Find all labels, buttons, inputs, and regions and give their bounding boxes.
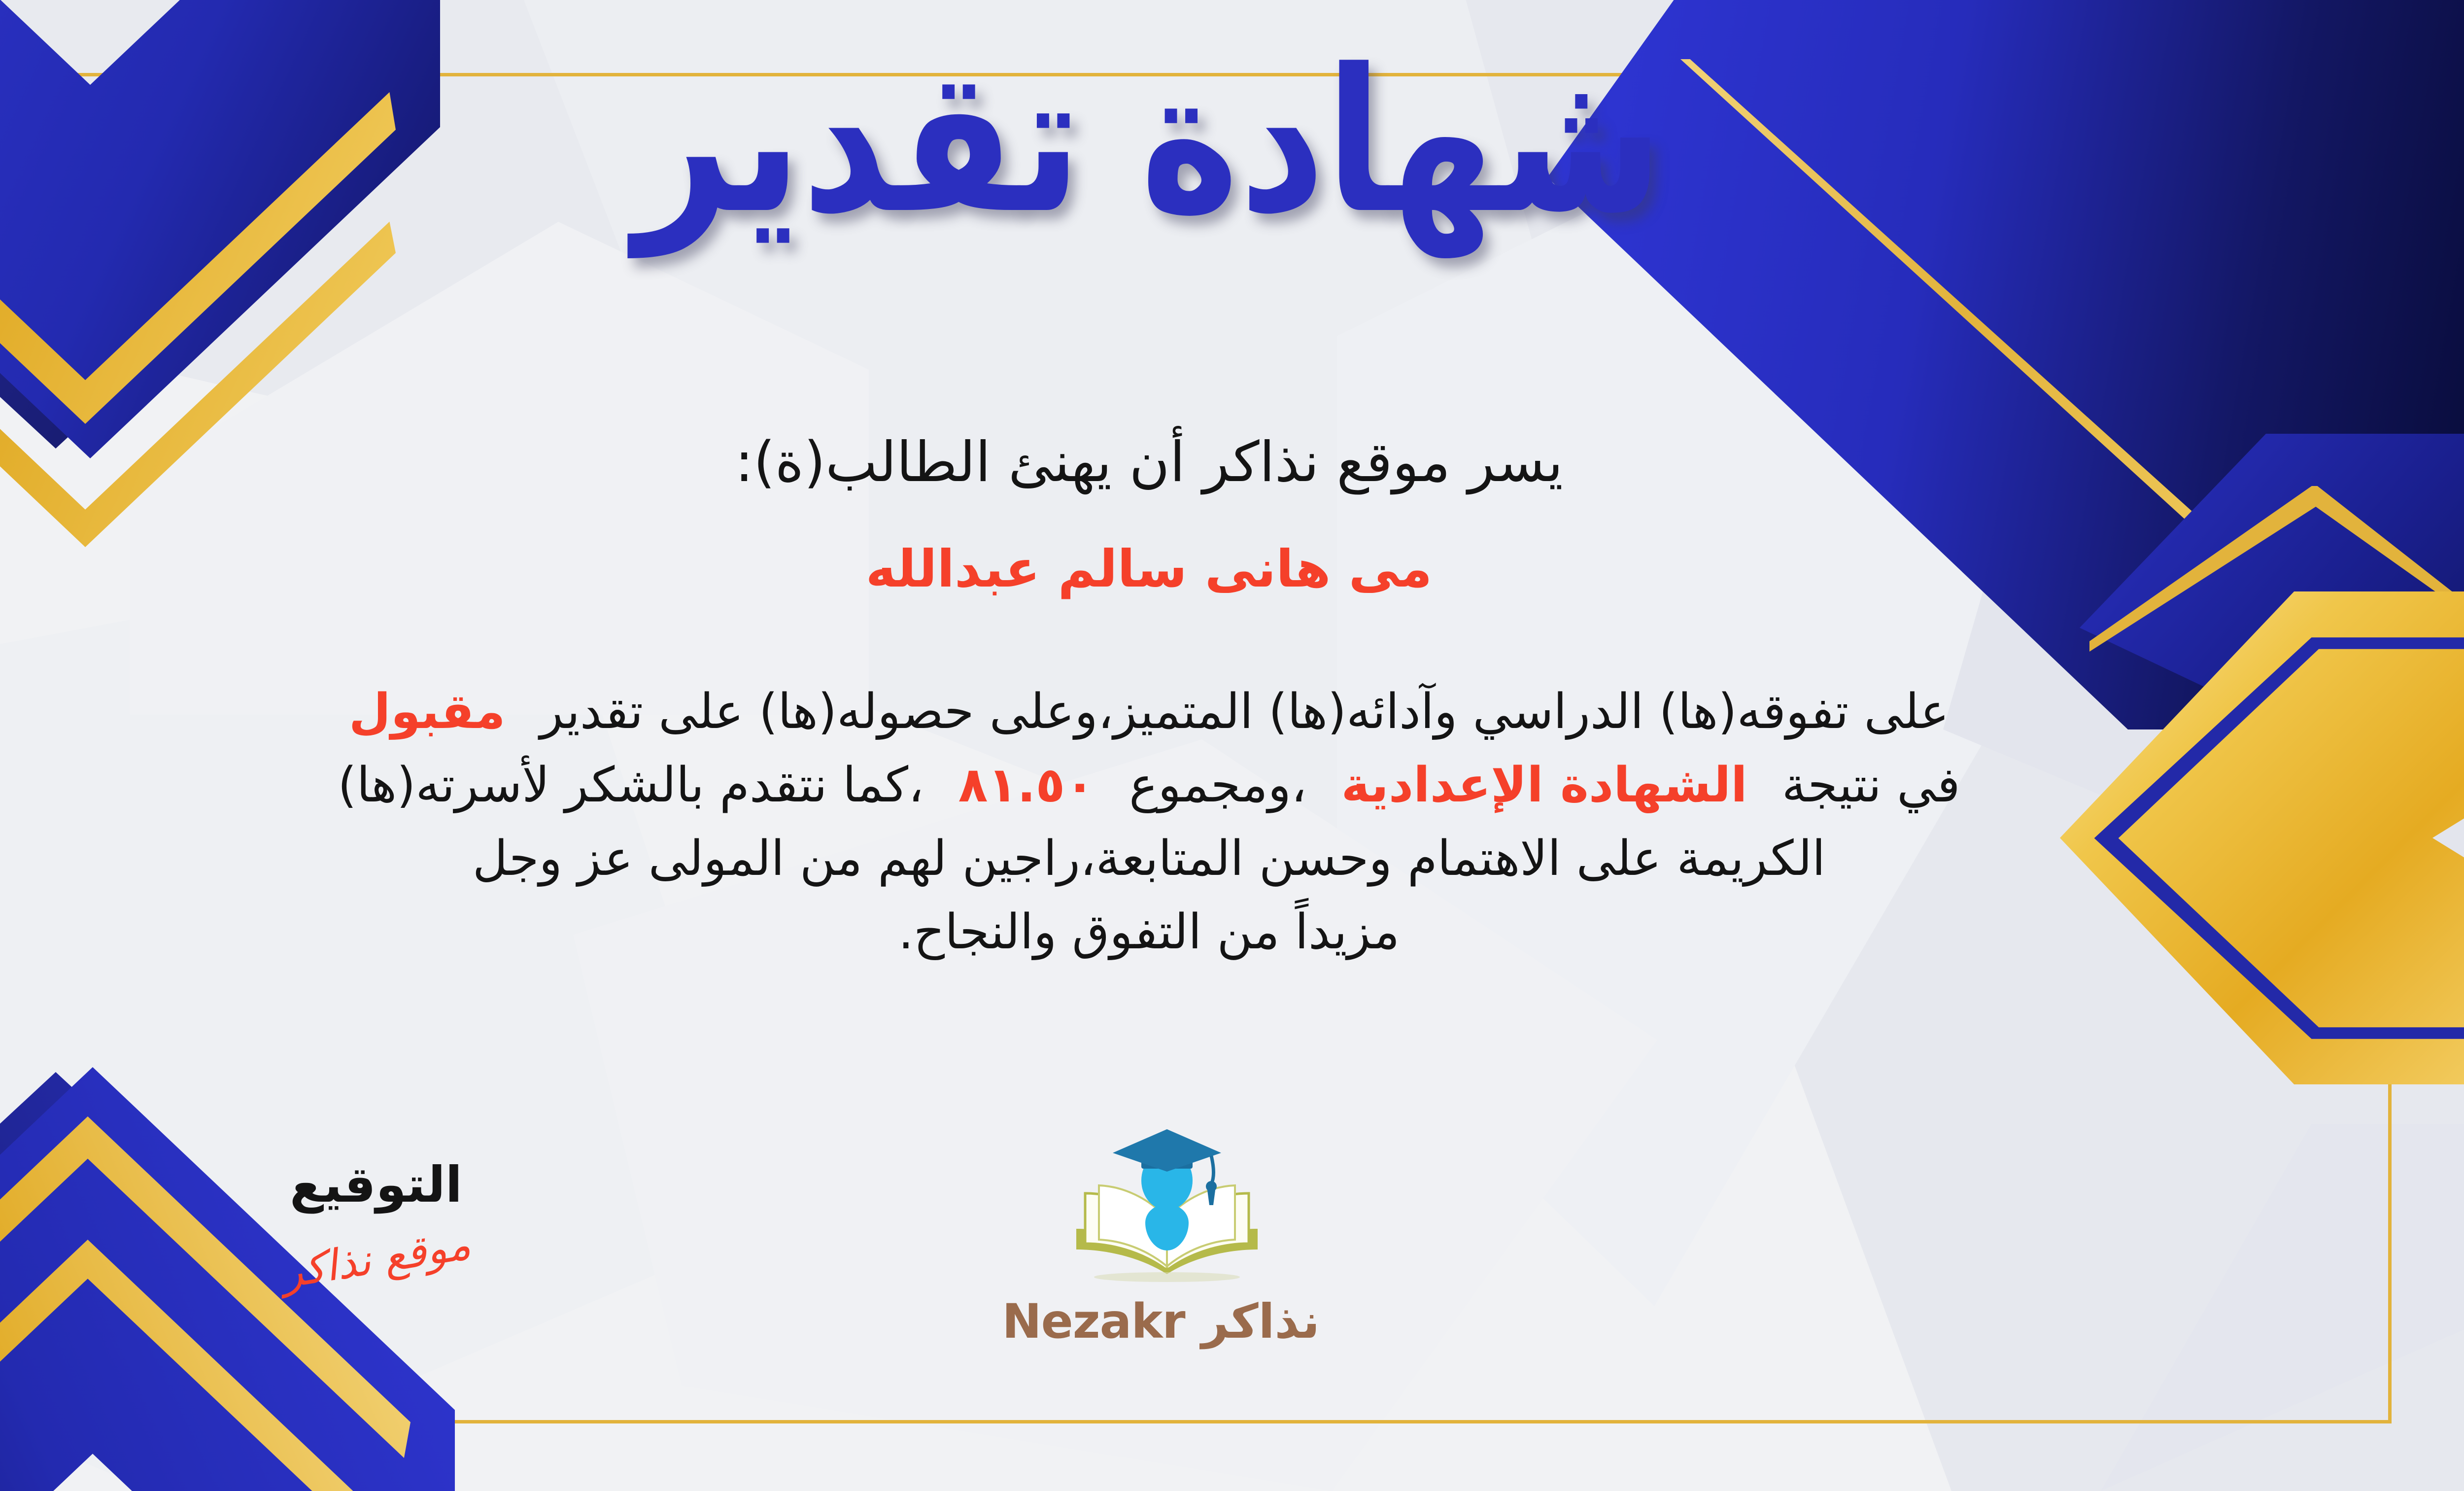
exam-name-value: الشهادة الإعدادية <box>1341 757 1747 813</box>
signature-block: التوقيع موقع نذاكر <box>223 1156 529 1283</box>
body-paragraph-3: الكريمة على الاهتمام وحسن المتابعة،راجين… <box>0 822 2301 896</box>
certificate-canvas: شهادة تقدير يسر موقع نذاكر أن يهنئ الطال… <box>0 0 2464 1491</box>
intro-line: يسر موقع نذاكر أن يهنئ الطالب(ة): <box>0 428 2464 497</box>
score-value: ٨١.٥٠ <box>958 757 1095 813</box>
body-segment-result: في نتيجة <box>1782 757 1960 813</box>
body-segment-total: ،ومجموع <box>1129 757 1306 813</box>
brand-logo: نذاكر Nezakr <box>1014 1126 1320 1349</box>
student-name: مى هانى سالم عبدالله <box>0 538 2464 600</box>
certificate-body: على تفوقه(ها) الدراسي وآدائه(ها) المتميز… <box>0 675 2301 969</box>
graduate-book-icon <box>1063 1126 1270 1299</box>
brand-logo-text: نذاكر Nezakr <box>1014 1294 1320 1349</box>
body-segment-thanks: ،كما نتقدم بالشكر لأسرته(ها) <box>338 757 924 813</box>
certificate-content: شهادة تقدير يسر موقع نذاكر أن يهنئ الطال… <box>0 0 2464 1491</box>
certificate-title: شهادة تقدير <box>0 43 2464 241</box>
body-paragraph-1: على تفوقه(ها) الدراسي وآدائه(ها) المتميز… <box>0 675 2301 749</box>
grade-value: مقبول <box>349 684 506 740</box>
body-paragraph-2: في نتيجةالشهادة الإعدادية،ومجموع٨١.٥٠،كم… <box>0 749 2301 822</box>
signature-mark: موقع نذاكر <box>278 1219 474 1298</box>
body-paragraph-4: مزيداً من التفوق والنجاح. <box>0 896 2301 969</box>
body-segment-achievement: على تفوقه(ها) الدراسي وآدائه(ها) المتميز… <box>540 684 1950 740</box>
signature-label: التوقيع <box>223 1156 529 1214</box>
